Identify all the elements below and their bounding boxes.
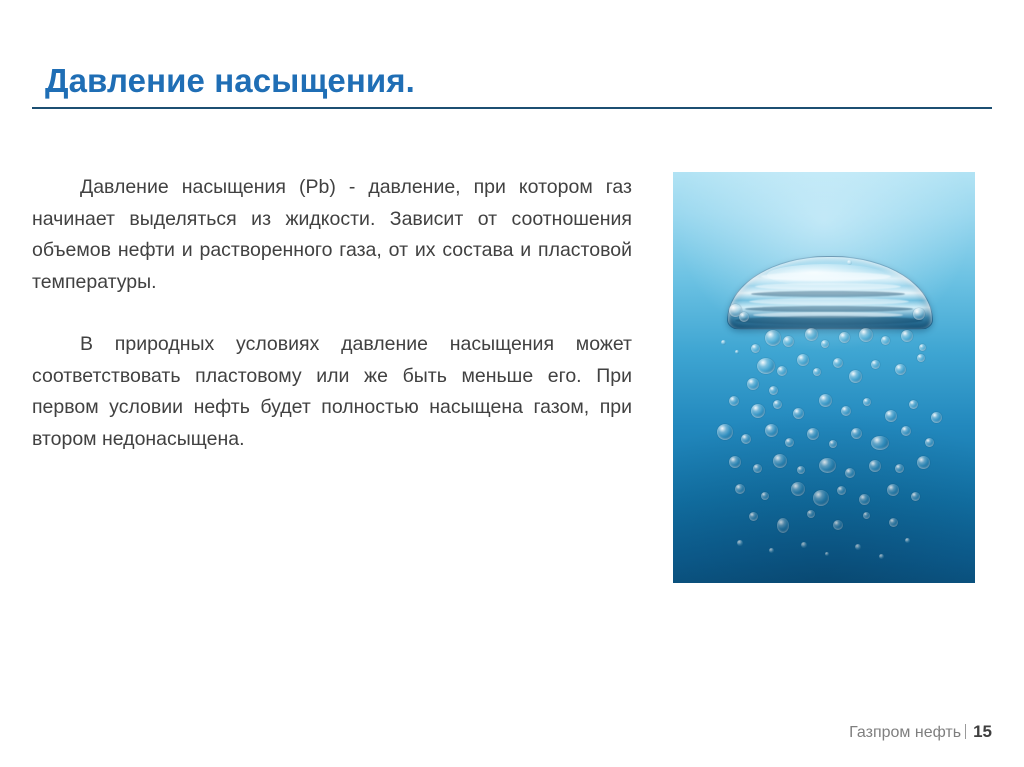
bubble	[839, 332, 850, 343]
dome-shadow-band	[751, 291, 905, 297]
bubble	[917, 354, 925, 362]
bubble-photo	[673, 172, 975, 583]
bubble	[901, 426, 911, 436]
bubble	[791, 482, 805, 496]
bubble	[863, 512, 870, 519]
bubble	[913, 308, 925, 320]
bubble	[761, 492, 769, 500]
bubble	[769, 548, 774, 553]
bubble	[729, 456, 741, 468]
dome-shadow-band	[735, 316, 923, 325]
bubble	[797, 466, 805, 474]
slide-number: 15	[973, 722, 992, 742]
bubble	[829, 440, 837, 448]
dome-highlight	[767, 264, 885, 286]
bubble	[801, 542, 807, 548]
bubble	[931, 412, 942, 423]
bubble	[729, 396, 739, 406]
large-bubble-dome	[727, 256, 933, 330]
bubble	[845, 468, 855, 478]
bubble	[909, 400, 918, 409]
bubble	[825, 552, 829, 556]
bubble	[751, 344, 760, 353]
bubble	[833, 520, 843, 530]
bubble	[773, 400, 782, 409]
bubble	[847, 260, 852, 265]
bubble	[807, 428, 819, 440]
paragraph-1: Давление насыщения (Pb) - давление, при …	[32, 172, 632, 298]
bubble	[751, 404, 765, 418]
bubble	[911, 492, 920, 501]
bubble	[833, 358, 843, 368]
bubble	[885, 410, 897, 422]
bubble	[797, 354, 809, 366]
footer: Газпром нефть 15	[849, 722, 992, 742]
bubble	[765, 424, 778, 437]
bubble	[895, 364, 906, 375]
bubble	[905, 538, 910, 543]
page-title: Давление насыщения.	[45, 60, 415, 102]
bubble	[783, 336, 794, 347]
bubble	[851, 428, 862, 439]
bubble	[881, 336, 890, 345]
bubble	[871, 436, 889, 450]
title-divider	[32, 107, 992, 109]
bubble	[849, 370, 862, 383]
bubble	[777, 518, 789, 533]
bubble	[739, 312, 749, 322]
slide: Давление насыщения. Давление насыщения (…	[0, 0, 1024, 767]
bubble	[859, 494, 870, 505]
bubble	[841, 406, 851, 416]
bubble	[735, 484, 745, 494]
dome-ridge	[749, 298, 909, 305]
bubble	[925, 438, 934, 447]
bubble	[813, 490, 829, 506]
body-text-block: Давление насыщения (Pb) - давление, при …	[32, 172, 632, 455]
bubble	[837, 486, 846, 495]
bubble	[889, 518, 898, 527]
bubble	[919, 344, 926, 351]
bubble	[871, 360, 880, 369]
bubble	[747, 378, 759, 390]
bubble	[717, 424, 733, 440]
bubble	[735, 350, 739, 354]
bubble	[753, 464, 762, 473]
footer-separator	[965, 724, 966, 739]
bubble	[721, 340, 726, 345]
bubble	[793, 408, 804, 419]
bubble	[769, 386, 778, 395]
bubble	[855, 544, 861, 550]
bubble	[741, 434, 751, 444]
bubble	[777, 366, 787, 376]
bubble	[773, 454, 787, 468]
bubble	[819, 394, 832, 407]
bubble	[869, 460, 881, 472]
bubble	[819, 458, 836, 473]
photo-vignette	[673, 172, 975, 583]
bubble	[895, 464, 904, 473]
bubble	[807, 510, 815, 518]
bubble	[749, 512, 758, 521]
paragraph-2: В природных условиях давление насыщения …	[32, 329, 632, 455]
bubble	[863, 398, 871, 406]
bubble	[805, 328, 818, 341]
bubble	[887, 484, 899, 496]
bubble	[737, 540, 743, 546]
bubble	[879, 554, 884, 559]
bubble	[785, 438, 794, 447]
bubble	[821, 340, 829, 348]
bubble	[859, 328, 873, 342]
bubble	[917, 456, 930, 469]
bubble	[765, 330, 781, 346]
bubble	[757, 358, 775, 374]
bubble	[813, 368, 821, 376]
footer-brand: Газпром нефть	[849, 724, 961, 742]
bubble	[901, 330, 913, 342]
